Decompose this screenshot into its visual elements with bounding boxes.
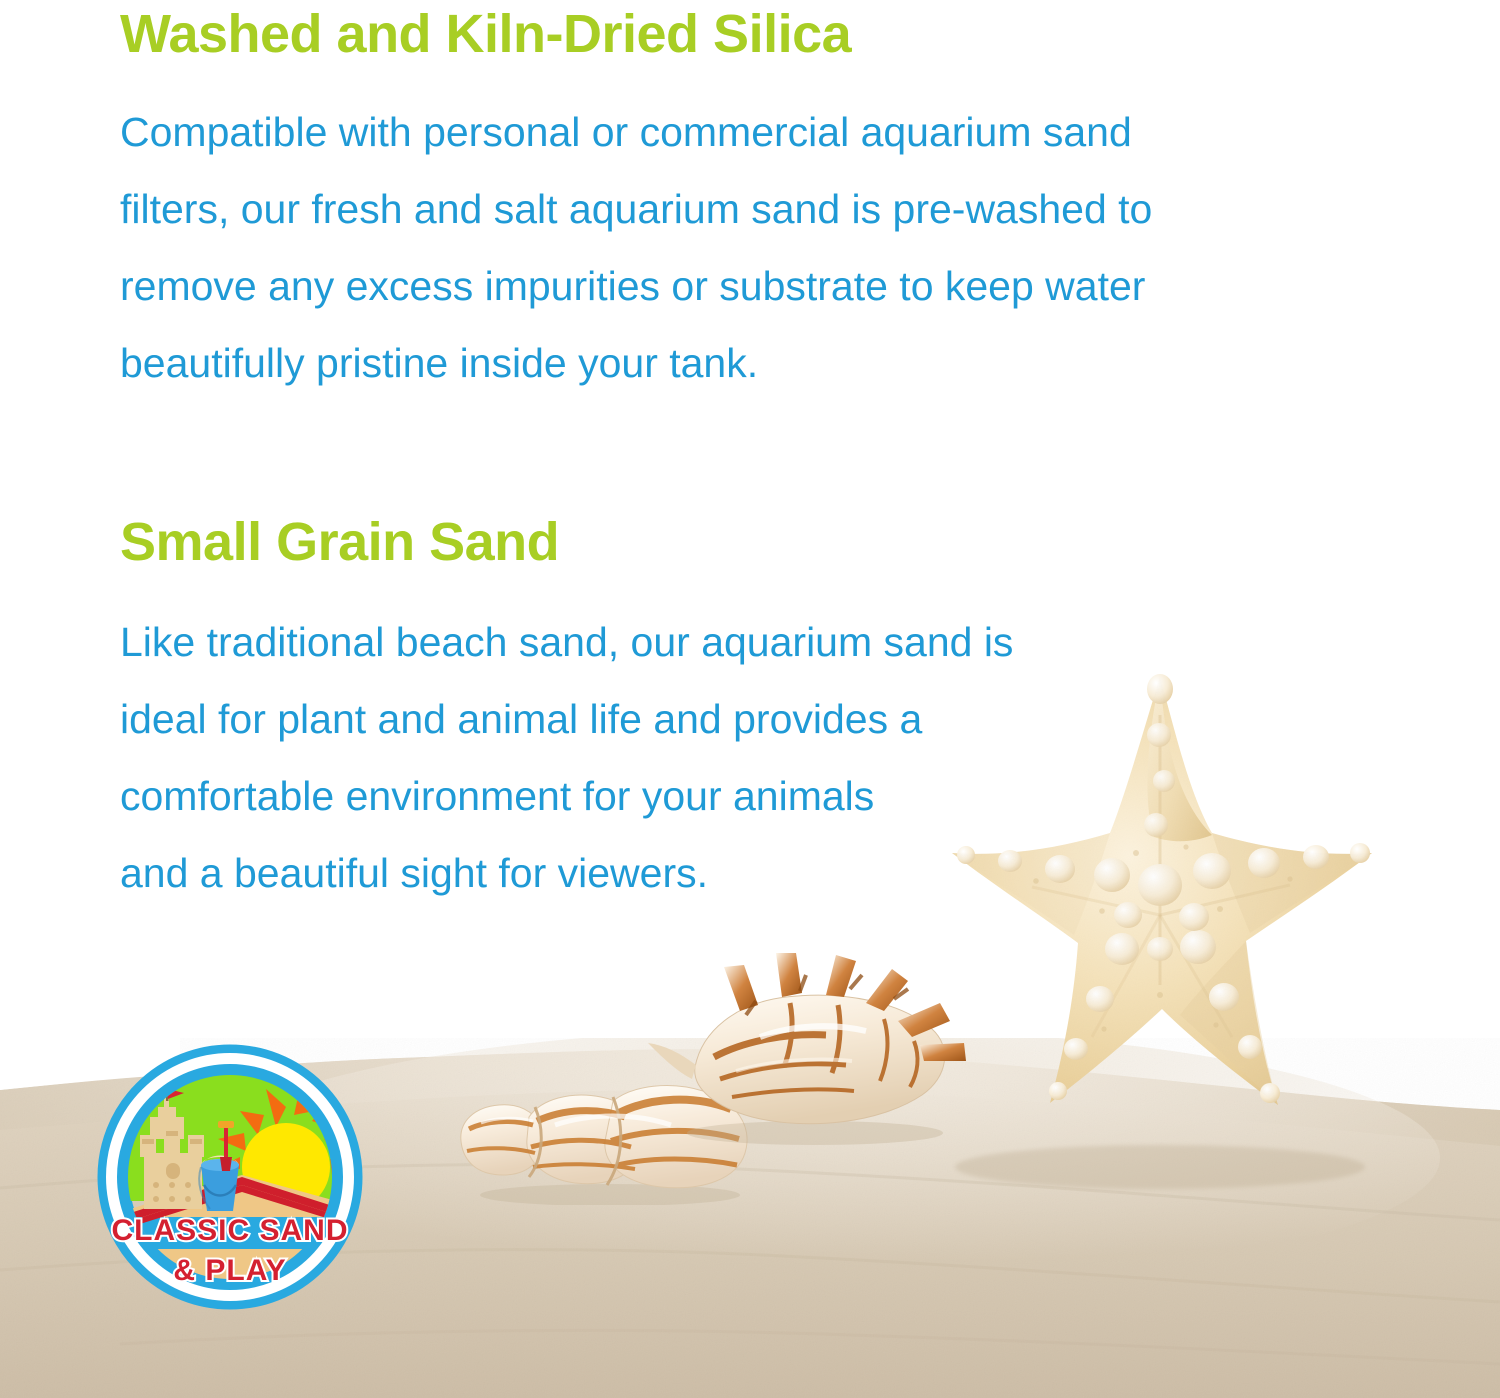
sand-bucket <box>199 1156 239 1212</box>
section-heading: Washed and Kiln-Dried Silica <box>120 2 1350 66</box>
body-line: Compatible with personal or commercial a… <box>120 94 1350 171</box>
body-line: beautifully pristine inside your tank. <box>120 325 1350 402</box>
body-line: comfortable environment for your animals <box>120 758 1350 835</box>
section-body: Compatible with personal or commercial a… <box>120 94 1350 402</box>
section-heading: Small Grain Sand <box>120 510 1350 574</box>
feature-section-washed-kiln-dried-silica: Washed and Kiln-Dried Silica Compatible … <box>120 0 1350 402</box>
body-line: and a beautiful sight for viewers. <box>120 835 1350 912</box>
logo-line-2: & PLAY <box>173 1254 286 1287</box>
classic-sand-and-play-logo[interactable]: CLASSIC SAND & PLAY <box>80 1035 380 1315</box>
feature-section-small-grain-sand: Small Grain Sand Like traditional beach … <box>120 510 1350 912</box>
conch-shell <box>640 945 970 1145</box>
logo-line-1: CLASSIC SAND <box>111 1214 348 1247</box>
body-line: Like traditional beach sand, our aquariu… <box>120 604 1350 681</box>
body-line: ideal for plant and animal life and prov… <box>120 681 1350 758</box>
body-line: filters, our fresh and salt aquarium san… <box>120 171 1350 248</box>
product-feature-panel: CLASSIC SAND & PLAY Washed and Kiln-Drie… <box>0 0 1500 1398</box>
feature-text-column: Washed and Kiln-Dried Silica Compatible … <box>120 0 1350 912</box>
section-body: Like traditional beach sand, our aquariu… <box>120 604 1350 912</box>
body-line: remove any excess impurities or substrat… <box>120 248 1350 325</box>
